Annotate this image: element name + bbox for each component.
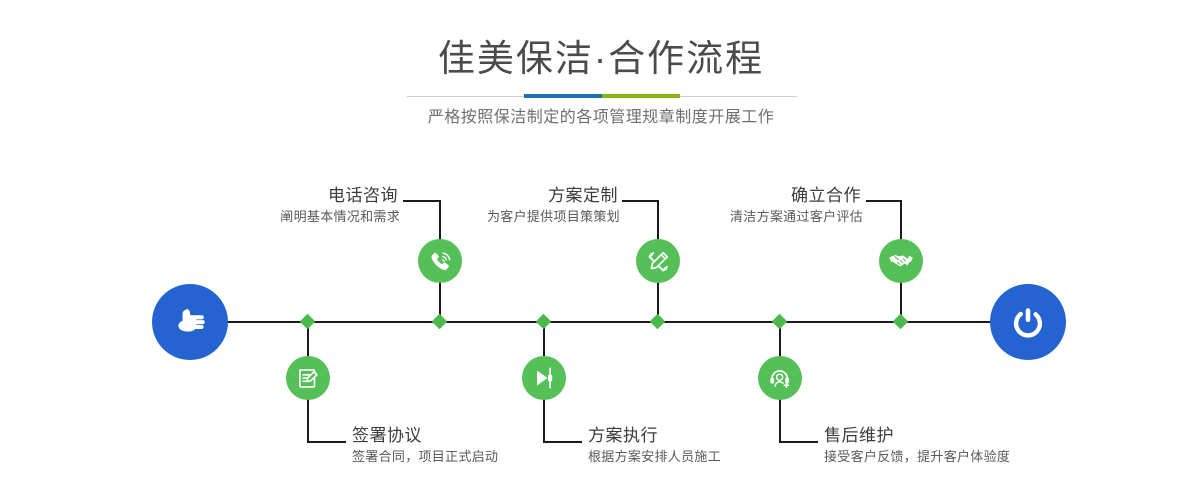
step-icon-step-3[interactable] <box>636 239 680 283</box>
node-diamond-step-4 <box>536 314 552 330</box>
flow-diagram-page: 佳美保洁·合作流程 严格按照保洁制定的各项管理规章制度开展工作 <box>0 0 1202 502</box>
step-icon-step-5[interactable] <box>879 239 923 283</box>
step-icon-step-4[interactable] <box>522 356 566 400</box>
step-title-step-5: 确立合作 <box>613 185 863 207</box>
step-icon-step-1[interactable] <box>418 239 462 283</box>
connector-horizontal-step-4 <box>543 441 582 443</box>
step-label-step-5: 确立合作 清洁方案通过客户评估 <box>613 185 863 227</box>
step-desc-step-1: 阐明基本情况和需求 <box>150 207 400 227</box>
step-label-step-1: 电话咨询 阐明基本情况和需求 <box>150 185 400 227</box>
step-desc-step-5: 清洁方案通过客户评估 <box>613 207 863 227</box>
customer-service-icon <box>767 365 794 392</box>
timeline-end-marker <box>990 284 1066 360</box>
divider-segment-blue <box>524 94 602 98</box>
pointing-hand-icon <box>168 300 212 344</box>
timeline-start-marker <box>152 284 228 360</box>
page-title: 佳美保洁·合作流程 <box>0 36 1202 82</box>
step-label-step-6: 售后维护 接受客户反馈，提升客户体验度 <box>824 425 1124 467</box>
step-title-step-6: 售后维护 <box>824 425 1124 447</box>
pencil-ruler-icon <box>645 248 672 275</box>
divider-line-left <box>407 96 524 97</box>
node-diamond-step-5 <box>893 314 909 330</box>
handshake-icon <box>887 247 915 275</box>
node-diamond-step-1 <box>432 314 448 330</box>
step-label-step-3: 方案定制 为客户提供项目策策划 <box>370 185 620 227</box>
phone-call-icon <box>427 248 454 275</box>
connector-horizontal-step-5 <box>866 200 902 202</box>
node-diamond-step-6 <box>772 314 788 330</box>
connector-horizontal-step-2 <box>307 441 346 443</box>
title-divider <box>407 94 797 98</box>
step-icon-step-6[interactable] <box>758 356 802 400</box>
step-title-step-3: 方案定制 <box>370 185 620 207</box>
document-sign-icon <box>295 365 321 391</box>
play-execute-icon <box>530 364 558 392</box>
step-icon-step-2[interactable] <box>286 356 330 400</box>
step-desc-step-6: 接受客户反馈，提升客户体验度 <box>824 447 1124 467</box>
divider-segment-green <box>602 94 680 98</box>
connector-horizontal-step-6 <box>779 441 818 443</box>
step-desc-step-3: 为客户提供项目策策划 <box>370 207 620 227</box>
node-diamond-step-2 <box>300 314 316 330</box>
timeline: 电话咨询 阐明基本情况和需求 签署协议 签署合同，项目正式启动 <box>0 140 1202 502</box>
page-subtitle: 严格按照保洁制定的各项管理规章制度开展工作 <box>0 106 1202 130</box>
power-button-icon <box>1006 300 1050 344</box>
divider-line-right <box>680 96 797 97</box>
node-diamond-step-3 <box>650 314 666 330</box>
step-title-step-1: 电话咨询 <box>150 185 400 207</box>
header: 佳美保洁·合作流程 严格按照保洁制定的各项管理规章制度开展工作 <box>0 0 1202 140</box>
